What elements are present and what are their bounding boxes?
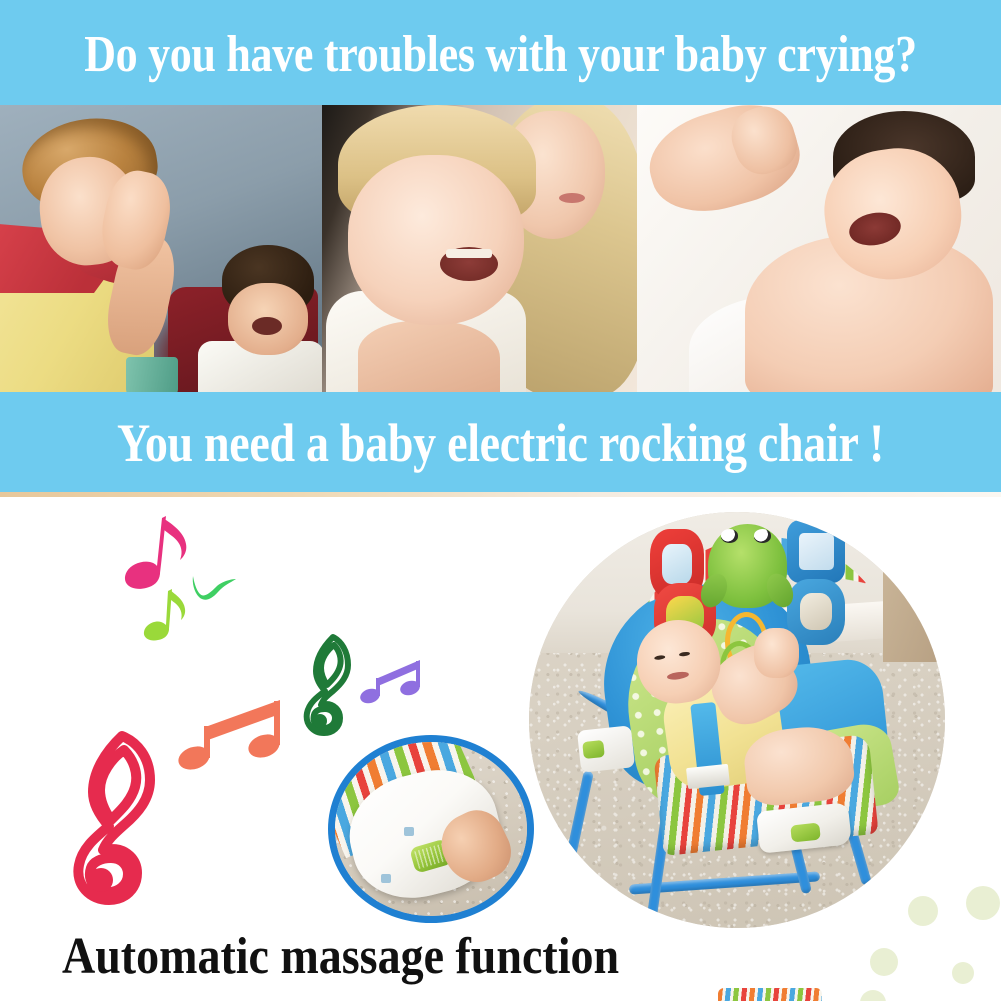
toddler-face [348, 155, 524, 325]
toddler-teeth [446, 249, 492, 258]
frog-eye-left [721, 529, 738, 542]
banner-seam-divider [0, 492, 1001, 497]
dark-green-treble-clef-icon [295, 633, 361, 741]
decorative-dot [908, 896, 938, 926]
indicator-light-lower [381, 874, 391, 883]
orange-beamed-note-icon [170, 690, 296, 786]
lime-eighth-note-icon [140, 586, 190, 656]
toy-mirror-surface [799, 533, 834, 570]
baby-hand [754, 628, 800, 678]
next-section-striped-sliver [718, 988, 822, 1001]
advertisement-page: Do you have troubles with your baby cryi… [0, 0, 1001, 1001]
headline-top-text: Do you have troubles with your baby cryi… [0, 21, 1001, 84]
photo-crying-newborn [637, 105, 1001, 392]
photo-mother-holding-crying-toddler [322, 105, 637, 392]
product-photo-baby-in-rocking-chair [529, 512, 945, 928]
caption-automatic-massage-function: Automatic massage function [0, 926, 1001, 985]
green-check-note-icon [190, 573, 238, 601]
toy-apple-inner [800, 593, 833, 630]
purple-beamed-note-icon [358, 652, 434, 714]
green-cup [126, 357, 178, 392]
baby-eye-left [655, 655, 666, 661]
crying-baby-photo-strip [0, 105, 1001, 392]
mother-lips [559, 193, 585, 203]
toy-frog [708, 524, 787, 607]
vibration-switch-green [582, 740, 604, 759]
toy-square-mirror [787, 520, 845, 582]
inset-photo-massage-switch-closeup [328, 735, 534, 923]
headline-banner-middle: You need a baby electric rocking chair ! [0, 392, 1001, 492]
toddler-crying-mouth [252, 317, 282, 335]
toy-apple-rattle [787, 579, 845, 646]
indicator-light-upper [404, 827, 414, 836]
massage-switch-green [790, 823, 821, 843]
decorative-dot [966, 886, 1000, 920]
decorative-dot [860, 990, 886, 1001]
baby-smiling-mouth [667, 670, 689, 680]
toddler-arm [358, 321, 500, 392]
photo-frustrated-mother-and-crying-toddler [0, 105, 322, 392]
headline-banner-top: Do you have troubles with your baby cryi… [0, 0, 1001, 105]
baby-eye-right [679, 652, 690, 658]
safety-harness-buckle [686, 764, 730, 789]
crimson-treble-clef-icon [60, 728, 172, 908]
headline-middle-text: You need a baby electric rocking chair ! [0, 410, 1001, 474]
toy-mirror-surface [662, 544, 692, 584]
frog-eye-right [754, 529, 771, 542]
